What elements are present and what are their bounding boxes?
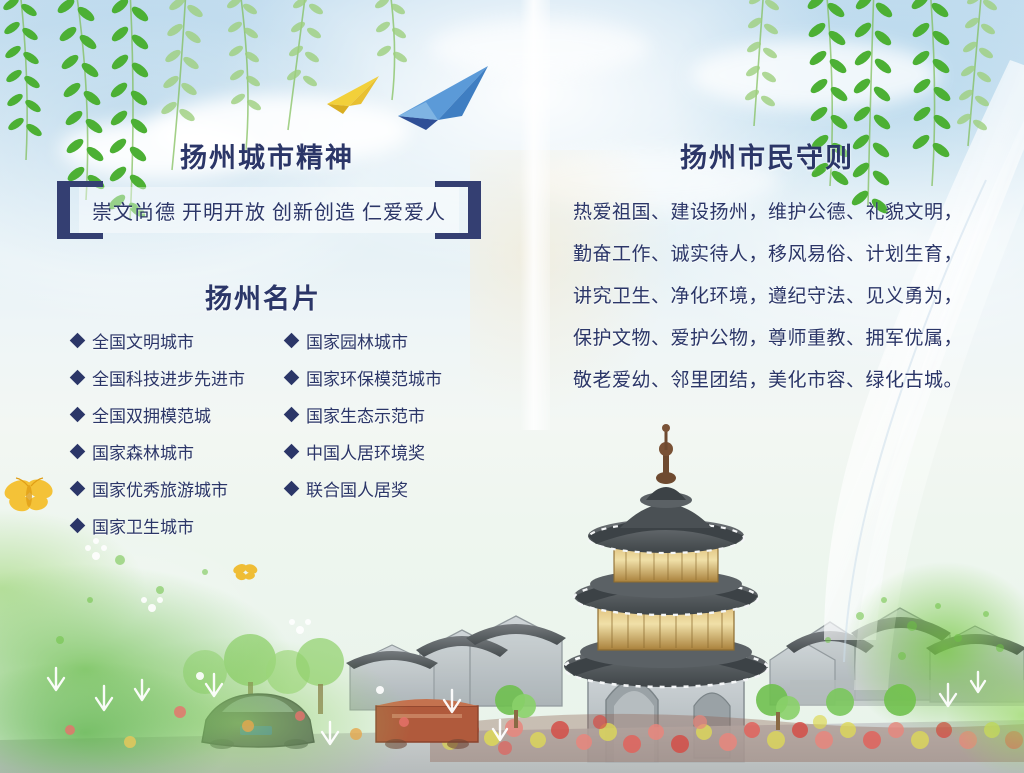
city-motto-inner-panel: 崇文尚德 开明开放 创新创造 仁爱爱人: [79, 187, 459, 233]
list-item: 国家卫生城市: [72, 507, 245, 544]
butterfly-large-icon: [2, 476, 56, 514]
list-item: 联合国人居奖: [286, 470, 442, 507]
diamond-bullet-icon: [70, 333, 86, 349]
list-item: 国家优秀旅游城市: [72, 470, 245, 507]
list-item-label: 国家卫生城市: [92, 513, 194, 538]
list-item: 中国人居环境奖: [286, 433, 442, 470]
list-item-label: 全国文明城市: [92, 328, 194, 353]
list-item-label: 全国双拥模范城: [92, 402, 211, 427]
bracket-right-bottom-arm: [435, 233, 481, 239]
paper-plane-blue-icon: [392, 58, 502, 130]
citizen-code-body: 热爱祖国、建设扬州，维护公德、礼貌文明， 勤奋工作、诚实待人，移风易俗、计划生育…: [573, 192, 973, 402]
diamond-bullet-icon: [284, 444, 300, 460]
diamond-bullet-icon: [70, 370, 86, 386]
diamond-bullet-icon: [70, 518, 86, 534]
grass-wash-left-deep: [0, 593, 400, 773]
list-item-label: 国家生态示范市: [306, 402, 425, 427]
citizen-code-line: 敬老爱幼、邻里团结，美化市容、绿化古城。: [573, 360, 973, 402]
list-item-label: 全国科技进步先进市: [92, 365, 245, 390]
list-item-label: 国家环保模范城市: [306, 365, 442, 390]
column-divider-panel: [520, 0, 550, 430]
list-item-label: 国家优秀旅游城市: [92, 476, 228, 501]
list-item: 国家生态示范市: [286, 396, 442, 433]
bracket-right-vertical: [468, 187, 481, 233]
city-motto-frame: 崇文尚德 开明开放 创新创造 仁爱爱人: [57, 181, 481, 239]
city-card-column-1: 全国文明城市 全国科技进步先进市 全国双拥模范城 国家森林城市 国家优秀旅游城市…: [72, 322, 245, 544]
paper-plane-yellow-icon: [323, 70, 387, 114]
bracket-left-bottom-arm: [57, 233, 103, 239]
citizen-code-line: 勤奋工作、诚实待人，移风易俗、计划生育，: [573, 234, 973, 276]
butterfly-small-icon: [232, 562, 258, 582]
list-item-label: 中国人居环境奖: [306, 439, 425, 464]
page-title-city-spirit: 扬州城市精神: [180, 136, 354, 175]
list-item: 全国科技进步先进市: [72, 359, 245, 396]
citizen-code-line: 讲究卫生、净化环境，遵纪守法、见义勇为，: [573, 276, 973, 318]
list-item: 全国文明城市: [72, 322, 245, 359]
list-item-label: 国家园林城市: [306, 328, 408, 353]
diamond-bullet-icon: [70, 481, 86, 497]
diamond-bullet-icon: [70, 407, 86, 423]
city-motto-text: 崇文尚德 开明开放 创新创造 仁爱爱人: [92, 196, 446, 225]
list-item-label: 国家森林城市: [92, 439, 194, 464]
list-item-label: 联合国人居奖: [306, 476, 408, 501]
city-card-column-2: 国家园林城市 国家环保模范城市 国家生态示范市 中国人居环境奖 联合国人居奖: [286, 322, 442, 507]
diamond-bullet-icon: [284, 481, 300, 497]
page-title-citizen-code: 扬州市民守则: [680, 136, 854, 175]
diamond-bullet-icon: [70, 444, 86, 460]
diamond-bullet-icon: [284, 407, 300, 423]
list-item: 国家森林城市: [72, 433, 245, 470]
list-item: 全国双拥模范城: [72, 396, 245, 433]
list-item: 国家环保模范城市: [286, 359, 442, 396]
poster-canvas: 扬州城市精神 崇文尚德 开明开放 创新创造 仁爱爱人 扬州名片 全国文明城市 全…: [0, 0, 1024, 773]
diamond-bullet-icon: [284, 333, 300, 349]
grass-wash-right: [734, 533, 1024, 773]
section-title-city-card: 扬州名片: [205, 277, 321, 316]
diamond-bullet-icon: [284, 370, 300, 386]
list-item: 国家园林城市: [286, 322, 442, 359]
citizen-code-line: 保护文物、爱护公物，尊师重教、拥军优属，: [573, 318, 973, 360]
bracket-left-vertical: [57, 187, 70, 233]
citizen-code-line: 热爱祖国、建设扬州，维护公德、礼貌文明，: [573, 192, 973, 234]
